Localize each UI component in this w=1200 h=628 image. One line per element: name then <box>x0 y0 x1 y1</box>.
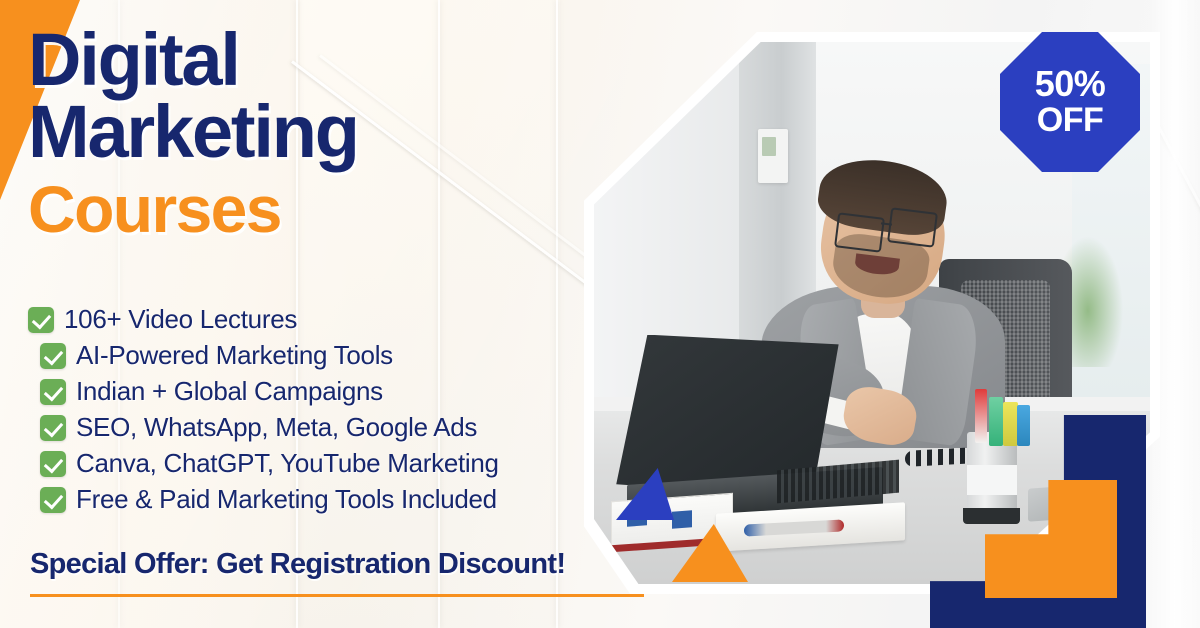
check-icon <box>40 451 66 477</box>
photo-thermostat <box>758 129 788 183</box>
feature-label: Canva, ChatGPT, YouTube Marketing <box>76 448 499 479</box>
promo-banner: Digital Marketing Courses 106+ Video Lec… <box>0 0 1200 628</box>
photo-marker-green <box>989 397 1003 446</box>
photo-marker-red <box>975 389 987 443</box>
photo-marker-blue <box>1017 405 1030 446</box>
cta-block: Special Offer: Get Registration Discount… <box>30 548 644 597</box>
photo-glasses-right-lens <box>887 207 938 248</box>
check-icon <box>40 343 66 369</box>
feature-label: Indian + Global Campaigns <box>76 376 383 407</box>
discount-off-label: OFF <box>1037 103 1103 139</box>
headline-line-2: Marketing <box>28 96 568 168</box>
feature-label: 106+ Video Lectures <box>64 304 297 335</box>
list-item: Indian + Global Campaigns <box>28 376 628 407</box>
discount-percent: 50% <box>1035 65 1106 103</box>
list-item: SEO, WhatsApp, Meta, Google Ads <box>28 412 628 443</box>
list-item: Free & Paid Marketing Tools Included <box>28 484 628 515</box>
list-item: 106+ Video Lectures <box>28 304 628 335</box>
feature-list: 106+ Video Lectures AI-Powered Marketing… <box>28 304 628 520</box>
check-icon <box>40 487 66 513</box>
feature-label: AI-Powered Marketing Tools <box>76 340 393 371</box>
check-icon <box>28 307 54 333</box>
headline-block: Digital Marketing Courses <box>28 24 568 242</box>
check-icon <box>40 415 66 441</box>
photo-pen-holder-band <box>967 465 1017 495</box>
list-item: AI-Powered Marketing Tools <box>28 340 628 371</box>
headline-line-1: Digital <box>28 24 568 96</box>
photo-glasses-left-lens <box>834 213 885 254</box>
headline-line-3: Courses <box>28 176 568 242</box>
cta-underline <box>30 594 644 597</box>
feature-label: Free & Paid Marketing Tools Included <box>76 484 497 515</box>
discount-badge: 50% OFF <box>1000 32 1140 172</box>
photo-pen-holder-base <box>963 508 1020 524</box>
list-item: Canva, ChatGPT, YouTube Marketing <box>28 448 628 479</box>
feature-label: SEO, WhatsApp, Meta, Google Ads <box>76 412 477 443</box>
photo-paper-marker <box>672 511 692 530</box>
cta-text: Special Offer: Get Registration Discount… <box>30 548 644 581</box>
check-icon <box>40 379 66 405</box>
photo-marker-yellow <box>1003 402 1017 445</box>
